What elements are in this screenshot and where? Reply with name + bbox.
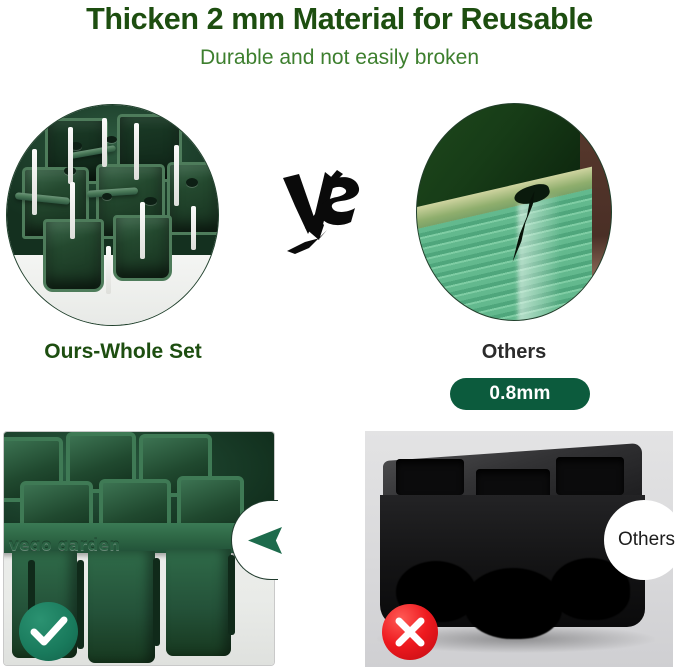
page-title: Thicken 2 mm Material for Reusable (0, 2, 679, 37)
others-thickness-badge: 0.8mm (450, 378, 590, 410)
check-icon (19, 602, 78, 661)
tray-slot (191, 206, 196, 250)
good-pot-slot (228, 555, 235, 634)
others-callout-label: Others (618, 529, 675, 551)
tray-slot (102, 118, 107, 166)
drain-hole (102, 193, 112, 200)
tray-slot (32, 149, 37, 215)
ours-caption: Ours-Whole Set (0, 340, 246, 364)
tray-slot (174, 145, 179, 207)
drain-hole (186, 178, 198, 187)
ours-product-photo (6, 104, 219, 326)
versus-mark (275, 168, 365, 256)
tray-slot (140, 202, 145, 259)
bad-tray-cell (556, 457, 624, 495)
good-pot-slot (153, 558, 160, 647)
pot-highlight (518, 194, 561, 321)
others-product-photo (416, 103, 612, 321)
infographic-page: Thicken 2 mm Material for Reusable Durab… (0, 0, 679, 668)
x-icon (382, 604, 438, 660)
others-caption: Others (416, 341, 612, 364)
tray-slot (134, 123, 139, 180)
drain-hole (106, 136, 117, 143)
others-photo-scene (417, 104, 611, 320)
tray-slot (106, 246, 111, 294)
tray-slot (70, 182, 75, 239)
ours-photo-scene (7, 105, 218, 325)
tray-slot (68, 127, 73, 184)
good-tray-pot (166, 549, 231, 656)
good-tray-pot (88, 551, 156, 663)
page-subtitle: Durable and not easily broken (0, 46, 679, 70)
bad-tray-cell (396, 459, 464, 494)
